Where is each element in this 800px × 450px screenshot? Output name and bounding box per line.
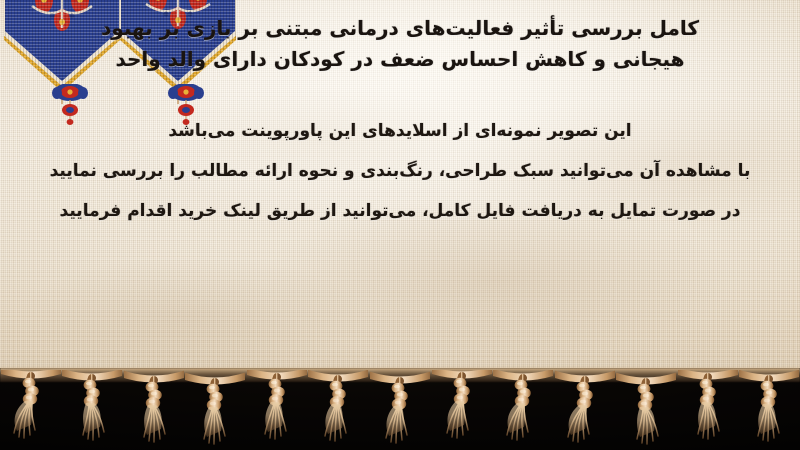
- carpet-tassel: [308, 370, 368, 450]
- carpet-tassel: [493, 370, 553, 450]
- carpet-tassel: [185, 370, 245, 450]
- carpet-tassel: [739, 370, 799, 450]
- carpet-tassel: [616, 370, 676, 450]
- title-line-1: کامل بررسی تأثیر فعالیت‌های درمانی مبتنی…: [14, 13, 786, 44]
- body-line-3: در صورت تمایل به دریافت فایل کامل، می‌تو…: [14, 191, 786, 231]
- slide-canvas: کامل بررسی تأثیر فعالیت‌های درمانی مبتنی…: [0, 0, 800, 450]
- carpet-tassel: [62, 370, 122, 450]
- carpet-tassel: [678, 370, 738, 450]
- carpet-tassel: [1, 370, 61, 450]
- title-line-2: هیجانی و کاهش احساس ضعف در کودکان دارای …: [14, 44, 786, 75]
- carpet-tassel: [432, 370, 492, 450]
- carpet-fringe: [0, 368, 800, 450]
- carpet-tassel: [124, 370, 184, 450]
- slide-title: کامل بررسی تأثیر فعالیت‌های درمانی مبتنی…: [14, 13, 786, 75]
- body-line-2: با مشاهده آن می‌توانید سبک طراحی، رنگ‌بن…: [14, 151, 786, 191]
- slide-text-layer: کامل بررسی تأثیر فعالیت‌های درمانی مبتنی…: [0, 0, 800, 231]
- body-line-1: این تصویر نمونه‌ای از اسلایدهای این پاور…: [14, 111, 786, 151]
- carpet-tassel: [370, 370, 430, 450]
- slide-body: این تصویر نمونه‌ای از اسلایدهای این پاور…: [14, 111, 786, 231]
- carpet-bottom-band: [0, 368, 800, 450]
- carpet-tassel: [247, 370, 307, 450]
- carpet-tassel: [555, 370, 615, 450]
